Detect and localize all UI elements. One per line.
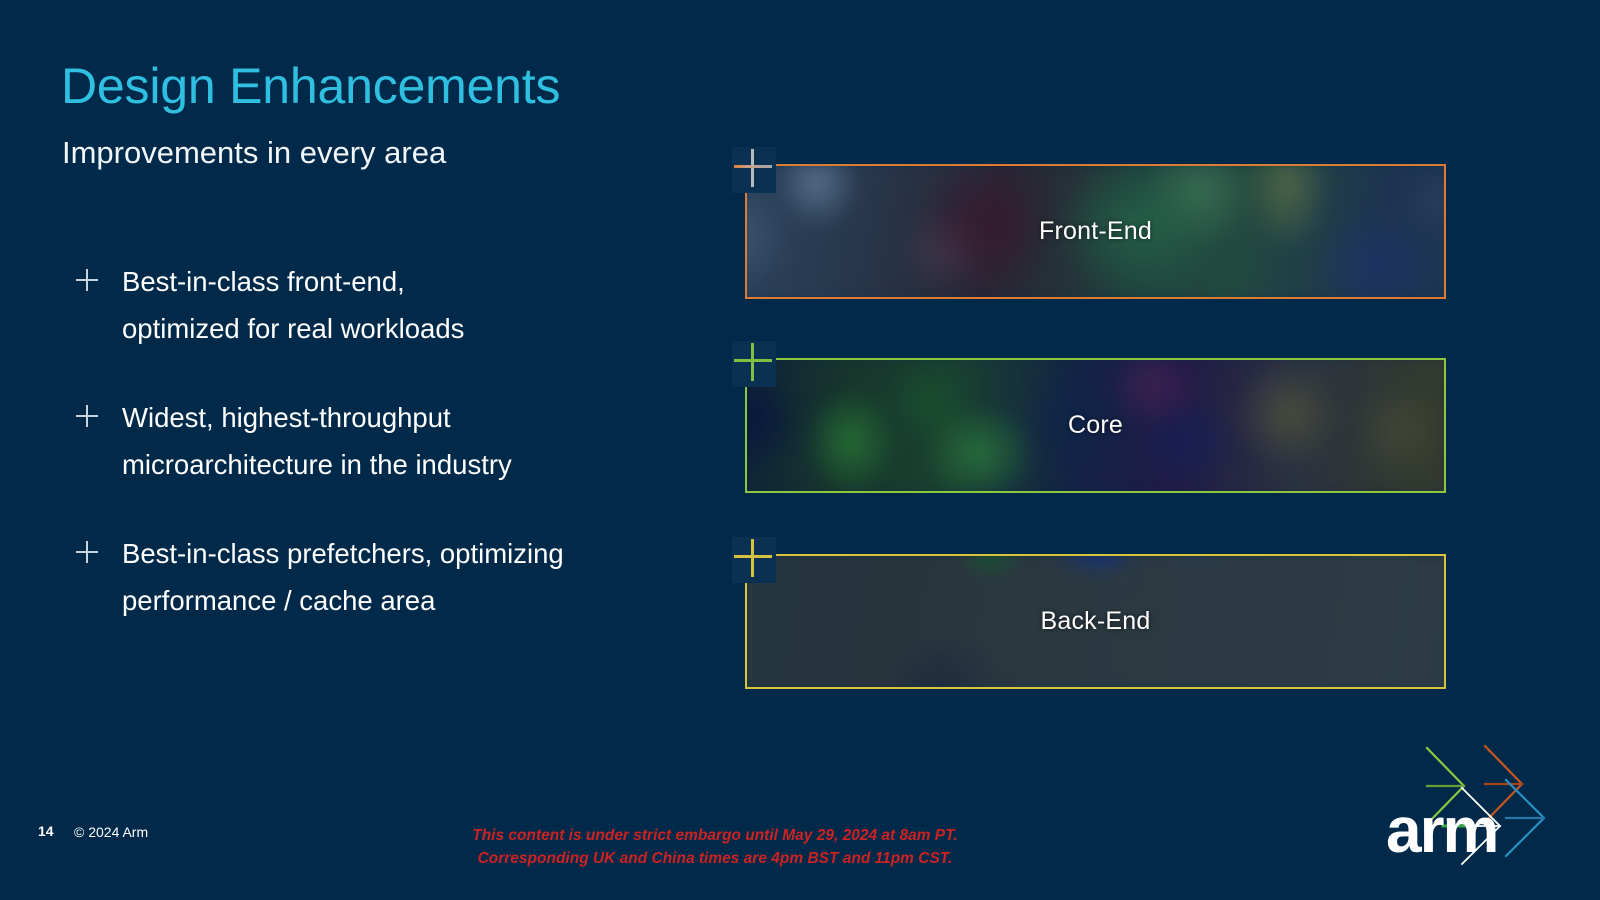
list-item: Widest, highest-throughput microarchitec… bbox=[70, 394, 730, 488]
plus-icon bbox=[732, 537, 780, 587]
diagram-block-label: Core bbox=[745, 410, 1446, 439]
embargo-line-1: This content is under strict embargo unt… bbox=[0, 824, 1430, 847]
diagram-block-label: Back-End bbox=[745, 606, 1446, 635]
list-item: Best-in-class front-end, optimized for r… bbox=[70, 258, 730, 352]
diagram-block-core: Core bbox=[745, 358, 1446, 493]
plus-icon bbox=[76, 405, 98, 427]
diagram-block-label: Front-End bbox=[745, 216, 1446, 245]
list-item-line: Best-in-class front-end, bbox=[122, 258, 730, 305]
list-item-text: Best-in-class prefetchers, optimizing pe… bbox=[122, 530, 730, 624]
arm-logo: arm bbox=[1386, 740, 1576, 870]
list-item-line: Best-in-class prefetchers, optimizing bbox=[122, 530, 730, 577]
list-item-line: microarchitecture in the industry bbox=[122, 441, 730, 488]
page-title: Design Enhancements bbox=[61, 56, 560, 116]
bullet-list: Best-in-class front-end, optimized for r… bbox=[70, 258, 730, 624]
plus-icon bbox=[732, 341, 780, 391]
list-item-line: Widest, highest-throughput bbox=[122, 394, 730, 441]
diagram-block-back-end: Back-End bbox=[745, 554, 1446, 689]
page-subtitle: Improvements in every area bbox=[62, 133, 446, 173]
list-item-text: Best-in-class front-end, optimized for r… bbox=[122, 258, 730, 352]
embargo-notice: This content is under strict embargo unt… bbox=[0, 824, 1600, 870]
die-diagram: Front-End Core Back-End bbox=[745, 164, 1450, 689]
slide-canvas: Design Enhancements Improvements in ever… bbox=[0, 0, 1600, 900]
list-item-line: optimized for real workloads bbox=[122, 305, 730, 352]
list-item-line: performance / cache area bbox=[122, 577, 730, 624]
plus-icon bbox=[76, 541, 98, 563]
plus-icon bbox=[76, 269, 98, 291]
plus-icon bbox=[732, 147, 780, 197]
list-item-text: Widest, highest-throughput microarchitec… bbox=[122, 394, 730, 488]
list-item: Best-in-class prefetchers, optimizing pe… bbox=[70, 530, 730, 624]
logo-wordmark: arm bbox=[1386, 798, 1497, 862]
diagram-block-front-end: Front-End bbox=[745, 164, 1446, 299]
embargo-line-2: Corresponding UK and China times are 4pm… bbox=[0, 847, 1430, 870]
